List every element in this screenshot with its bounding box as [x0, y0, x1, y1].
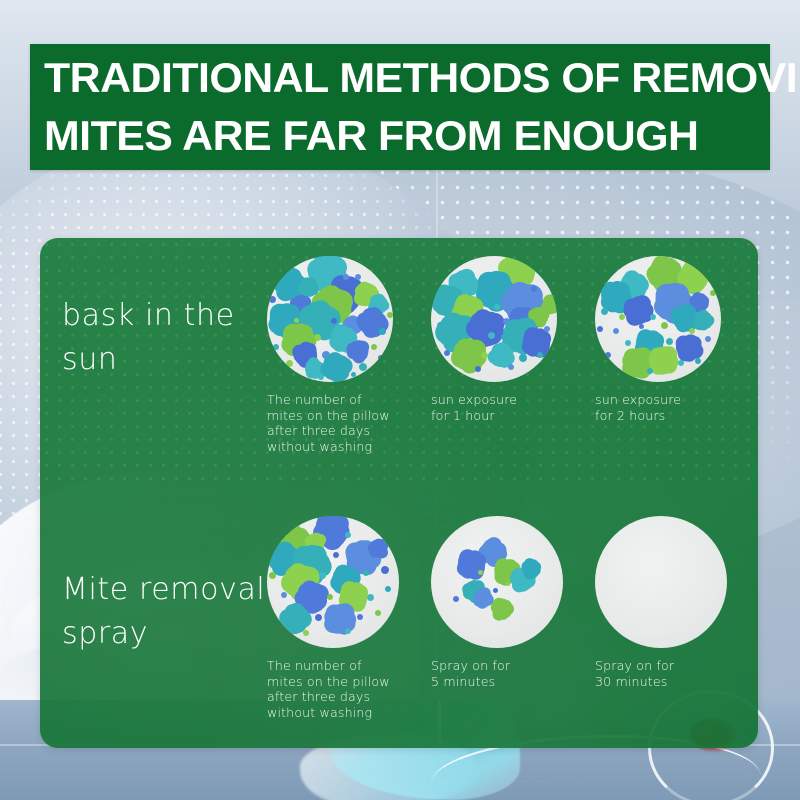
mite-germ-icon	[650, 314, 656, 320]
mite-germ-icon	[695, 358, 701, 364]
mite-germ-icon	[665, 294, 682, 311]
mite-germ-icon	[487, 546, 499, 558]
mite-germ-icon	[679, 312, 691, 324]
mite-germ-icon	[359, 363, 367, 371]
mite-germ-icon	[705, 336, 711, 342]
mite-germ-icon	[379, 328, 386, 335]
mite-germ-icon	[357, 614, 363, 620]
mite-germ-icon	[597, 326, 603, 332]
mite-germ-icon	[474, 300, 481, 307]
mite-germ-icon	[487, 282, 504, 299]
mite-germ-icon	[374, 544, 383, 553]
mite-germ-icon	[461, 304, 475, 318]
petri-dish-sun-1-hour	[431, 256, 557, 382]
mite-germ-icon	[657, 354, 670, 367]
mite-germ-icon	[293, 574, 309, 590]
mite-germ-icon	[345, 628, 351, 634]
mite-germ-icon	[351, 372, 356, 377]
mite-germ-icon	[530, 336, 543, 349]
mite-germ-icon	[601, 308, 608, 315]
mite-germ-icon	[678, 360, 684, 366]
mite-germ-icon	[305, 590, 319, 604]
mite-germ-icon	[333, 612, 347, 626]
petri-dish-spray-baseline	[267, 516, 399, 648]
mite-germ-icon	[345, 532, 351, 538]
mite-germ-icon	[666, 338, 673, 345]
mite-germ-icon	[355, 550, 370, 565]
mite-germ-icon	[497, 604, 507, 614]
mite-germ-icon	[347, 322, 356, 331]
mite-germ-icon	[689, 328, 695, 334]
mite-germ-icon	[448, 324, 465, 341]
mite-germ-icon	[527, 564, 536, 573]
mite-germ-icon	[339, 574, 352, 587]
mite-germ-icon	[627, 280, 640, 293]
mite-germ-icon	[289, 534, 302, 547]
mite-germ-icon	[371, 344, 377, 350]
row-label-bask-in-the-sun: bask in the sun	[62, 294, 272, 382]
mite-germ-icon	[330, 361, 343, 374]
mite-germ-icon	[347, 590, 360, 603]
mite-germ-icon	[605, 352, 611, 358]
mite-germ-icon	[661, 322, 668, 329]
mite-germ-icon	[337, 333, 349, 345]
mite-germ-icon	[338, 286, 354, 302]
cell-spray-baseline: The number of mites on the pillow after …	[265, 510, 441, 720]
mite-germ-icon	[304, 283, 313, 292]
mite-germ-icon	[496, 350, 507, 361]
mite-germ-icon	[639, 324, 644, 329]
cell-spray-30-minutes: Spray on for 30 minutes	[593, 510, 758, 689]
petri-dish-sun-baseline	[267, 256, 393, 382]
mite-germ-icon	[281, 592, 287, 598]
mite-germ-icon	[537, 352, 543, 358]
mite-germ-icon	[457, 278, 470, 291]
mite-germ-icon	[361, 289, 372, 300]
mite-germ-icon	[509, 262, 525, 278]
mite-germ-icon	[291, 333, 306, 348]
mite-germ-icon	[494, 304, 500, 310]
mite-germ-icon	[367, 594, 374, 601]
row-1-cells: The number of mites on the pillow after …	[262, 250, 758, 490]
mite-germ-icon	[311, 312, 328, 329]
mite-germ-icon	[501, 566, 513, 578]
comparison-panel: bask in the sun The number of mites on t…	[40, 238, 758, 748]
mite-germ-icon	[353, 346, 363, 356]
mite-germ-icon	[374, 300, 383, 309]
caption-sun-1-hour: sun exposure for 1 hour	[431, 392, 605, 423]
mite-germ-icon	[318, 374, 324, 380]
mite-germ-icon	[501, 334, 507, 340]
mite-germ-icon	[462, 348, 477, 363]
mite-germ-icon	[508, 364, 514, 370]
mite-germ-icon	[366, 316, 379, 329]
mite-germ-icon	[469, 586, 479, 596]
mite-germ-icon	[657, 266, 672, 281]
mite-germ-icon	[493, 588, 498, 593]
mite-germ-icon	[303, 556, 320, 573]
mite-germ-icon	[547, 300, 556, 309]
mite-germ-icon	[481, 352, 488, 359]
mite-germ-icon	[296, 300, 305, 309]
mite-germ-icon	[289, 612, 302, 625]
mite-germ-icon	[534, 312, 543, 321]
caption-sun-baseline: The number of mites on the pillow after …	[267, 392, 441, 454]
mite-germ-icon	[269, 572, 276, 579]
mite-germ-icon	[519, 354, 527, 362]
header-banner: TRADITIONAL METHODS OF REMOVING MITES AR…	[30, 44, 770, 170]
mite-germ-icon	[273, 344, 279, 350]
mite-germ-icon	[331, 318, 337, 324]
mite-germ-icon	[513, 328, 529, 344]
mite-germ-icon	[385, 586, 391, 592]
mite-germ-icon	[333, 552, 339, 558]
mite-germ-icon	[278, 313, 293, 328]
mite-germ-icon	[631, 356, 645, 370]
mite-germ-icon	[343, 274, 349, 280]
mite-germ-icon	[625, 340, 631, 346]
caption-spray-baseline: The number of mites on the pillow after …	[267, 658, 441, 720]
petri-dish-spray-5-minutes	[431, 516, 563, 648]
mite-germ-icon	[531, 286, 537, 292]
mite-germ-icon	[300, 349, 311, 360]
mite-germ-icon	[286, 360, 293, 367]
mite-germ-icon	[277, 552, 291, 566]
mite-germ-icon	[619, 314, 625, 320]
mite-germ-icon	[327, 594, 333, 600]
mite-germ-icon	[355, 274, 361, 280]
mite-germ-icon	[363, 570, 369, 576]
mite-germ-icon	[319, 572, 326, 579]
mite-germ-icon	[322, 351, 330, 359]
mite-germ-icon	[643, 338, 656, 351]
mite-germ-icon	[521, 586, 525, 590]
infographic-canvas: TRADITIONAL METHODS OF REMOVING MITES AR…	[0, 0, 800, 800]
mite-germ-icon	[387, 312, 393, 318]
mite-germ-icon	[647, 368, 653, 374]
row-mite-removal-spray: Mite removal spray The number of mites o…	[40, 510, 758, 746]
mite-germ-icon	[514, 294, 532, 312]
mite-germ-icon	[699, 316, 708, 325]
mite-germ-icon	[683, 342, 695, 354]
mite-germ-icon	[378, 355, 384, 361]
mite-germ-icon	[315, 614, 322, 621]
row-label-mite-removal-spray: Mite removal spray	[62, 568, 272, 656]
mite-germ-icon	[503, 318, 510, 325]
mite-germ-icon	[465, 558, 478, 571]
mite-germ-icon	[479, 594, 488, 603]
cell-sun-2-hours: sun exposure for 2 hours	[593, 250, 758, 423]
mite-germ-icon	[437, 322, 444, 329]
mite-germ-icon	[283, 278, 297, 292]
mite-germ-icon	[314, 334, 321, 341]
mite-germ-icon	[544, 326, 550, 332]
mite-germ-icon	[632, 304, 645, 317]
mite-germ-icon	[303, 630, 309, 636]
mite-germ-icon	[324, 297, 341, 314]
mite-germ-icon	[324, 522, 340, 538]
mite-germ-icon	[687, 270, 701, 284]
cell-sun-baseline: The number of mites on the pillow after …	[265, 250, 441, 454]
cell-spray-5-minutes: Spray on for 5 minutes	[429, 510, 605, 689]
mite-germ-icon	[453, 596, 459, 602]
mite-germ-icon	[381, 566, 389, 574]
mite-germ-icon	[311, 538, 320, 547]
petri-dish-sun-2-hours	[595, 256, 721, 382]
mite-germ-icon	[506, 582, 510, 586]
mite-germ-icon	[468, 338, 473, 343]
caption-sun-2-hours: sun exposure for 2 hours	[595, 392, 758, 423]
mite-germ-icon	[444, 350, 450, 356]
caption-spray-5-minutes: Spray on for 5 minutes	[431, 658, 605, 689]
mite-germ-icon	[517, 574, 528, 585]
mite-germ-icon	[441, 294, 455, 308]
caption-spray-30-minutes: Spray on for 30 minutes	[595, 658, 758, 689]
mite-germ-icon	[695, 298, 704, 307]
cell-sun-1-hour: sun exposure for 1 hour	[429, 250, 605, 423]
row-2-cells: The number of mites on the pillow after …	[262, 510, 758, 746]
mite-germ-icon	[269, 296, 276, 303]
mite-germ-icon	[310, 364, 319, 373]
mite-germ-icon	[475, 366, 481, 372]
mite-germ-icon	[488, 332, 495, 339]
petri-dish-spray-30-minutes	[595, 516, 727, 648]
mite-germ-icon	[613, 328, 619, 334]
row-bask-in-the-sun: bask in the sun The number of mites on t…	[40, 250, 758, 490]
mite-germ-icon	[294, 318, 299, 323]
mite-germ-icon	[375, 610, 381, 616]
mite-germ-icon	[319, 263, 336, 280]
mite-germ-icon	[478, 570, 483, 575]
mite-germ-icon	[710, 290, 716, 296]
header-line-2: MITES ARE FAR FROM ENOUGH	[44, 107, 770, 165]
header-line-1: TRADITIONAL METHODS OF REMOVING	[44, 49, 770, 107]
mite-germ-icon	[609, 290, 623, 304]
